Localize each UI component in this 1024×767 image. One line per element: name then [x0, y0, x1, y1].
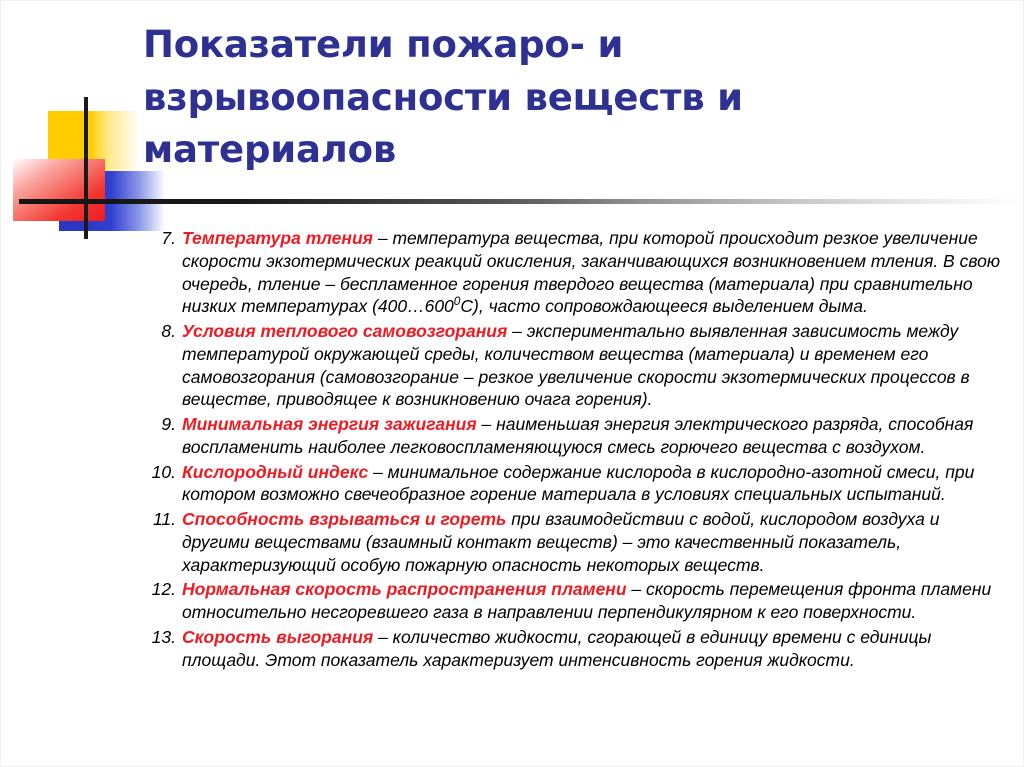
- list-item-text: Температура тления – температура веществ…: [182, 227, 1006, 318]
- emblem-yellow-square: [48, 111, 140, 173]
- list-item-text: Минимальная энергия зажигания – наименьш…: [182, 413, 1006, 459]
- list-item: 8. Условия теплового самовозгорания – эк…: [144, 320, 1006, 411]
- list-item-text: Кислородный индекс – минимальное содержа…: [182, 461, 1006, 507]
- list-item: 9. Минимальная энергия зажигания – наиме…: [144, 413, 1006, 459]
- list-item-number: 9.: [144, 413, 182, 436]
- list-item: 13. Скорость выгорания – количество жидк…: [144, 626, 1006, 672]
- list-item: 10. Кислородный индекс – минимальное сод…: [144, 461, 1006, 507]
- list-item-term: Условия теплового самовозгорания: [182, 321, 507, 341]
- list-item-text: Условия теплового самовозгорания – экспе…: [182, 320, 1006, 411]
- definition-list: 7. Температура тления – температура веще…: [144, 227, 1006, 673]
- emblem-red-square: [13, 159, 105, 221]
- list-item: 7. Температура тления – температура веще…: [144, 227, 1006, 318]
- slide-canvas: Показатели пожаро- и взрывоопасности вещ…: [0, 0, 1024, 767]
- list-item-term: Температура тления: [182, 228, 373, 248]
- list-item-term: Минимальная энергия зажигания: [182, 414, 477, 434]
- list-item-text: Нормальная скорость распространения плам…: [182, 578, 1006, 624]
- list-item: 12. Нормальная скорость распространения …: [144, 578, 1006, 624]
- title-line-2: взрывоопасности веществ и: [143, 72, 843, 125]
- list-item-text: Способность взрываться и гореть при взаи…: [182, 508, 1006, 576]
- list-item-text: Скорость выгорания – количество жидкости…: [182, 626, 1006, 672]
- list-item-number: 7.: [144, 227, 182, 250]
- list-item-term: Способность взрываться и гореть: [182, 509, 506, 529]
- list-item-number: 13.: [144, 626, 182, 649]
- list-item-number: 10.: [144, 461, 182, 484]
- list-item-term: Кислородный индекс: [182, 462, 368, 482]
- list-item: 11. Способность взрываться и гореть при …: [144, 508, 1006, 576]
- emblem-vertical-rule: [84, 97, 88, 239]
- list-item-term: Скорость выгорания: [182, 627, 373, 647]
- list-item-number: 11.: [144, 508, 182, 531]
- list-item-term: Нормальная скорость распространения плам…: [182, 579, 627, 599]
- emblem-blue-tab: [59, 203, 89, 231]
- list-item-body-b: С), часто сопровождающееся выделением ды…: [460, 296, 867, 316]
- list-item-number: 12.: [144, 578, 182, 601]
- title-line-3: материалов: [143, 124, 843, 177]
- list-item-number: 8.: [144, 320, 182, 343]
- title-line-1: Показатели пожаро- и: [143, 19, 843, 72]
- title-underline-rule: [19, 199, 1024, 204]
- slide-title: Показатели пожаро- и взрывоопасности вещ…: [143, 19, 843, 177]
